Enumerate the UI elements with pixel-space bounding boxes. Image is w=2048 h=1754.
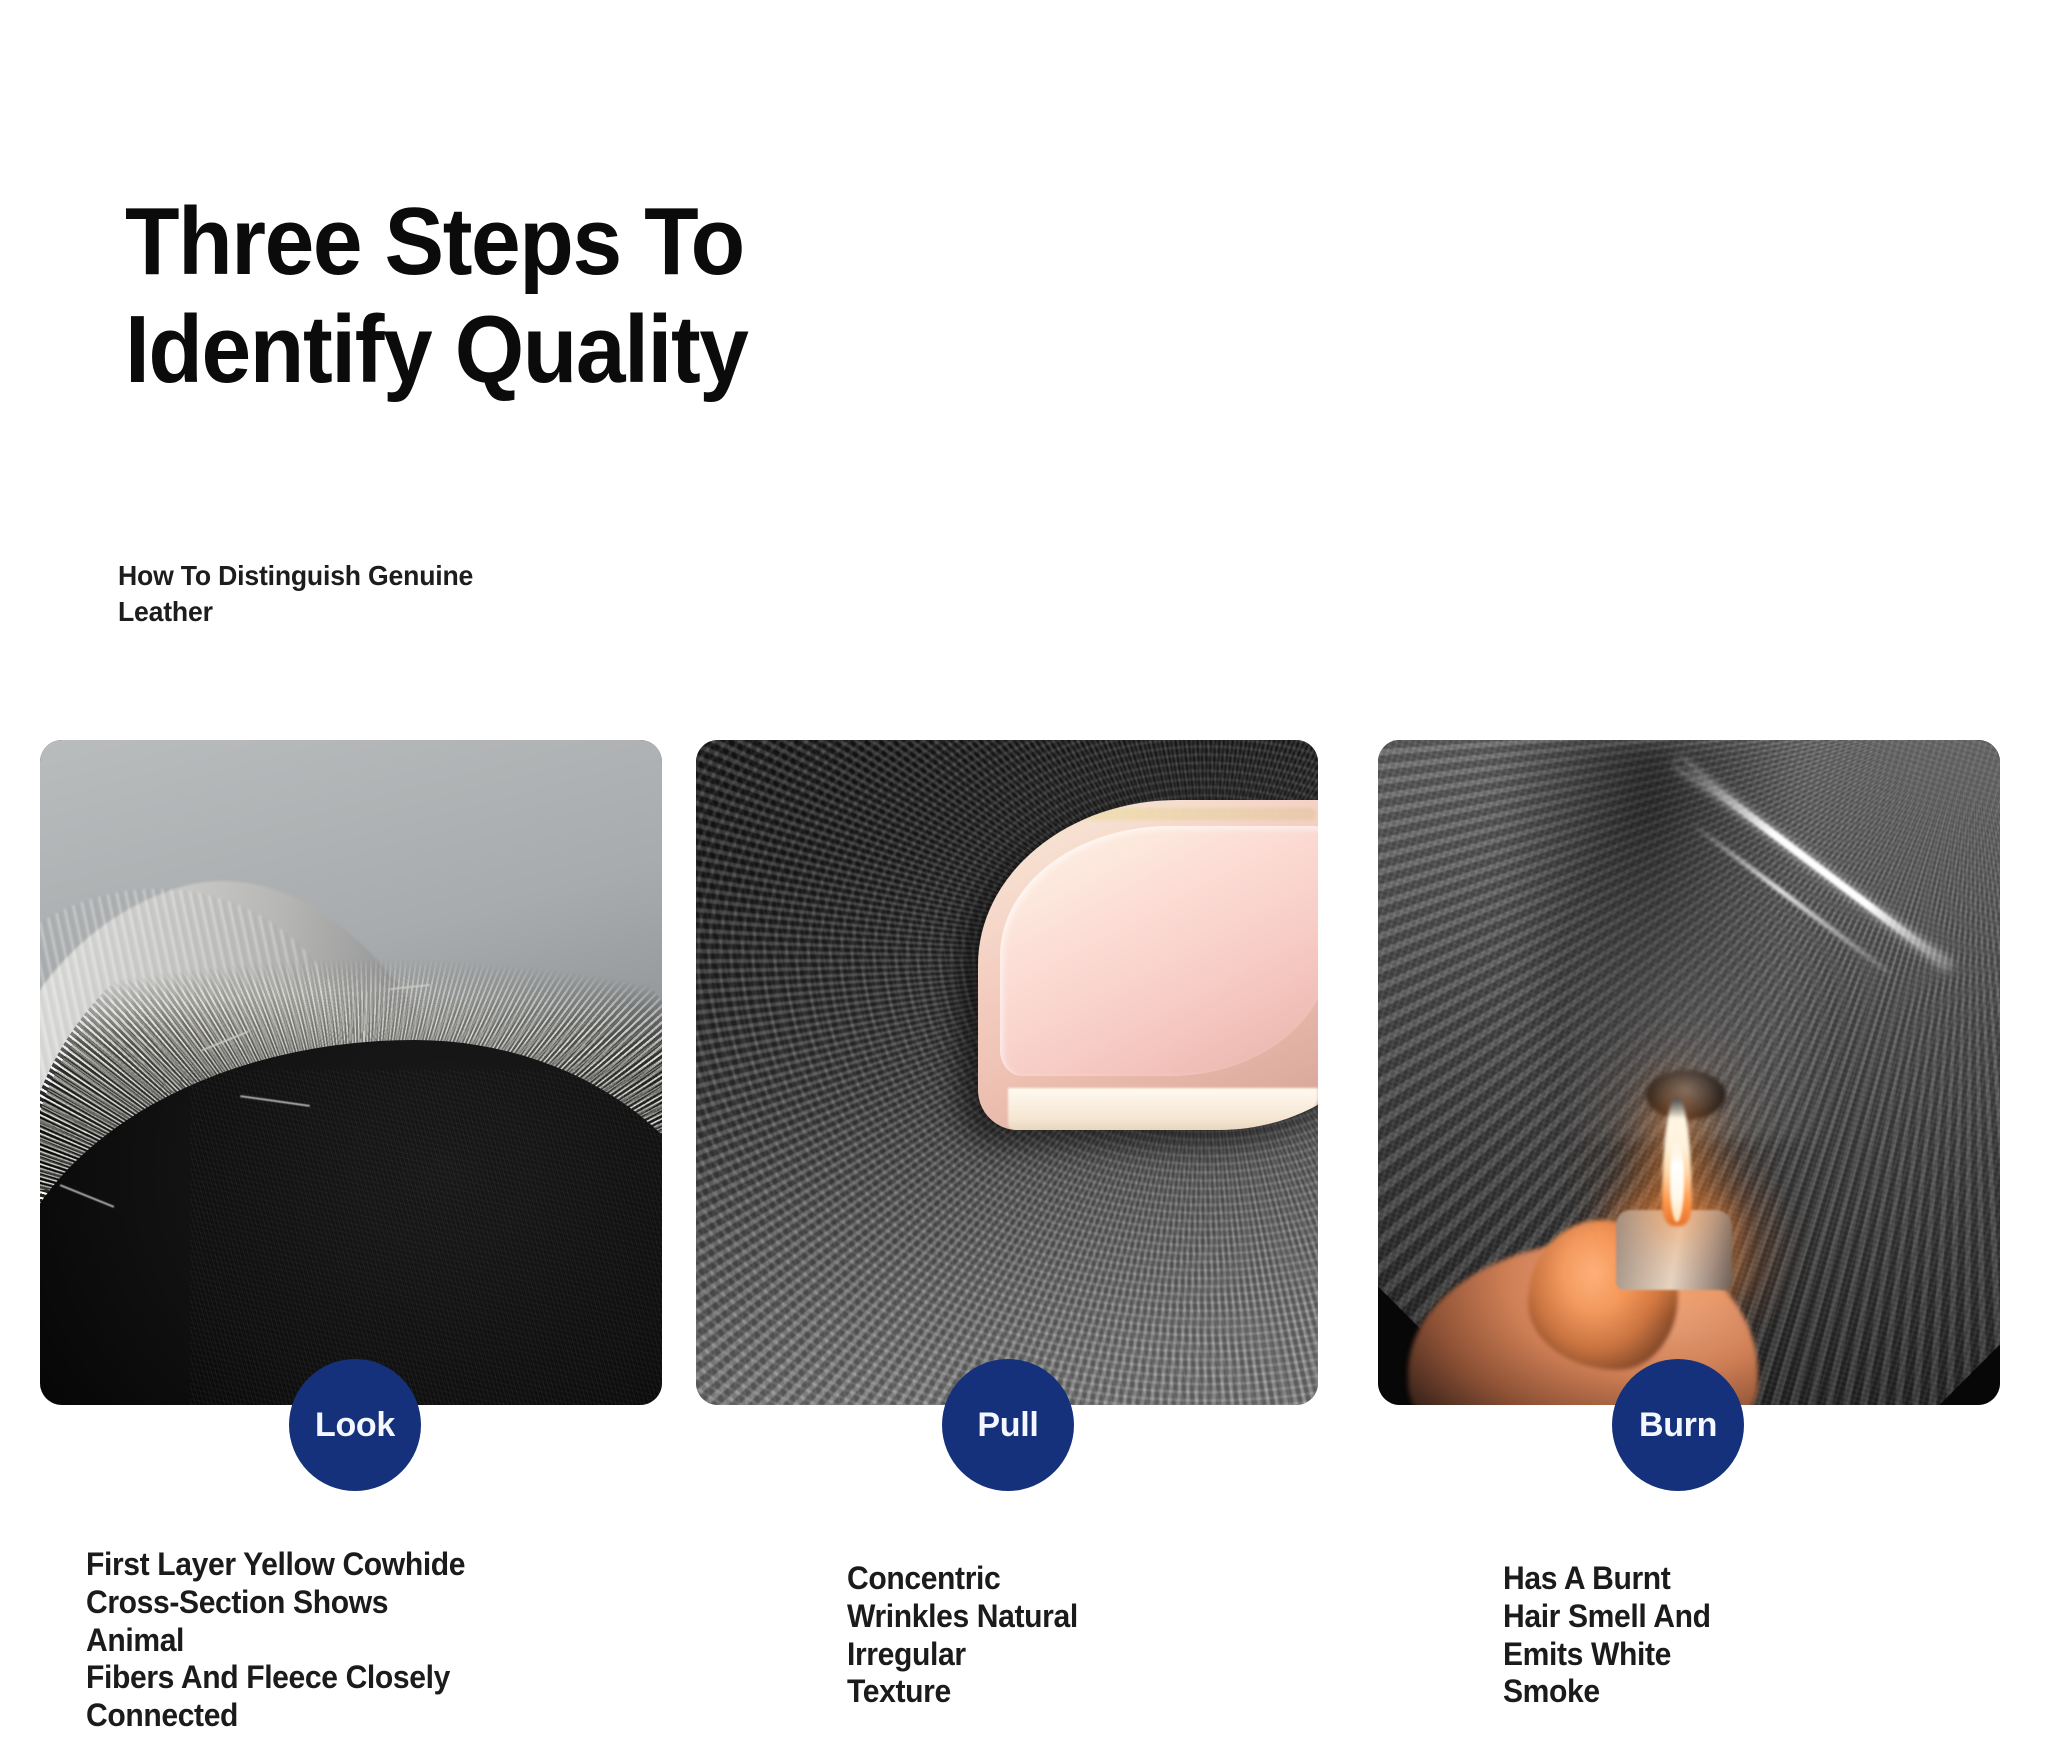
step-card-pull[interactable] bbox=[696, 740, 1318, 1405]
step-caption-look: First Layer Yellow Cowhide Cross-Section… bbox=[86, 1546, 490, 1735]
step-badge-burn[interactable]: Burn bbox=[1612, 1359, 1744, 1491]
step-card-burn[interactable] bbox=[1378, 740, 2000, 1405]
step-badge-label: Pull bbox=[977, 1406, 1038, 1445]
step-badge-pull[interactable]: Pull bbox=[942, 1359, 1074, 1491]
leather-corner-tip bbox=[1646, 1070, 1726, 1120]
page-subtitle: How To Distinguish Genuine Leather bbox=[118, 558, 565, 631]
leather-grain-texture bbox=[190, 1070, 662, 1405]
leather-cross-section-photo bbox=[40, 740, 662, 1405]
step-badge-look[interactable]: Look bbox=[289, 1359, 421, 1491]
step-caption-pull: Concentric Wrinkles Natural Irregular Te… bbox=[847, 1560, 1129, 1711]
page-header: Three Steps To Identify Quality bbox=[125, 188, 794, 403]
fingertip-pressing-leather-photo bbox=[696, 740, 1318, 1405]
fingernail-top-edge bbox=[1016, 808, 1316, 820]
page-title: Three Steps To Identify Quality bbox=[125, 188, 748, 403]
fingernail-free-edge bbox=[1008, 1088, 1318, 1130]
step-caption-burn: Has A Burnt Hair Smell And Emits White S… bbox=[1503, 1560, 1785, 1711]
leather-burn-test-photo bbox=[1378, 740, 2000, 1405]
step-badge-label: Burn bbox=[1639, 1406, 1717, 1445]
step-card-look[interactable] bbox=[40, 740, 662, 1405]
flame-core bbox=[1670, 1140, 1684, 1222]
steps-card-row bbox=[0, 740, 2048, 1405]
fingernail bbox=[1000, 826, 1318, 1076]
step-badge-label: Look bbox=[315, 1406, 395, 1445]
